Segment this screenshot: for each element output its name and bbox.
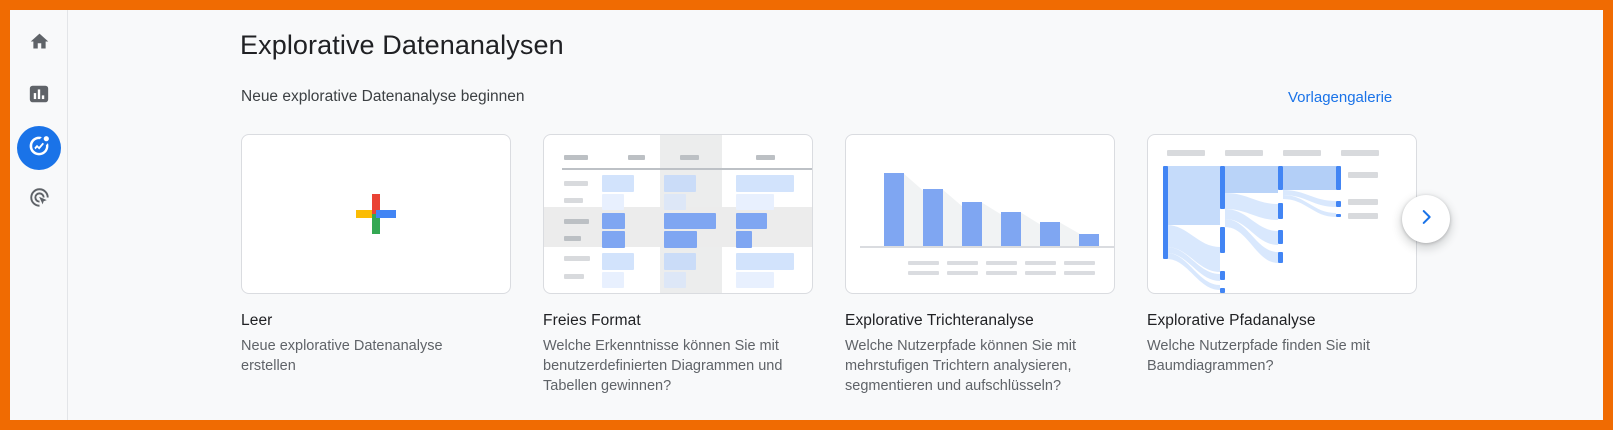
primary-sidebar	[10, 10, 68, 420]
sidebar-item-explore[interactable]	[17, 126, 61, 170]
card-title: Leer	[241, 312, 511, 330]
card-description: Welche Nutzerpfade finden Sie mit Baumdi…	[1147, 336, 1397, 376]
sankey-path-preview	[1148, 135, 1416, 293]
card-thumbnail-funnel[interactable]	[845, 134, 1115, 294]
card-title: Freies Format	[543, 312, 813, 330]
page-title: Explorative Datenanalysen	[240, 30, 564, 61]
card-thumbnail-path[interactable]	[1147, 134, 1417, 294]
chevron-right-icon	[1415, 206, 1437, 233]
card-title: Explorative Trichteranalyse	[845, 312, 1115, 330]
card-thumbnail-free-form[interactable]	[543, 134, 813, 294]
template-card-row: Leer Neue explorative Datenanalyse erste…	[241, 134, 1561, 414]
card-blank[interactable]: Leer Neue explorative Datenanalyse erste…	[241, 134, 511, 376]
template-gallery-link[interactable]: Vorlagengalerie	[1288, 89, 1392, 106]
section-subtitle: Neue explorative Datenanalyse beginnen	[241, 88, 525, 106]
card-description: Welche Erkenntnisse können Sie mit benut…	[543, 336, 793, 396]
sidebar-item-home[interactable]	[17, 22, 61, 66]
google-plus-icon	[356, 194, 396, 234]
funnel-chart-preview	[846, 135, 1114, 293]
bar-chart-icon	[28, 83, 50, 110]
home-icon	[29, 31, 50, 57]
card-description: Neue explorative Datenanalyse erstellen	[241, 336, 491, 376]
sidebar-item-reports[interactable]	[17, 74, 61, 118]
main-content: Explorative Datenanalysen Neue explorati…	[68, 10, 1603, 420]
card-description: Welche Nutzerpfade können Sie mit mehrst…	[845, 336, 1095, 396]
advertising-target-icon	[28, 186, 51, 214]
card-free-form[interactable]: Freies Format Welche Erkenntnisse können…	[543, 134, 813, 396]
card-path[interactable]: Explorative Pfadanalyse Welche Nutzerpfa…	[1147, 134, 1417, 376]
free-form-table-preview	[544, 135, 812, 293]
card-thumbnail-blank[interactable]	[241, 134, 511, 294]
card-title: Explorative Pfadanalyse	[1147, 312, 1417, 330]
app-window: Explorative Datenanalysen Neue explorati…	[10, 10, 1603, 420]
card-funnel[interactable]: Explorative Trichteranalyse Welche Nutze…	[845, 134, 1115, 396]
carousel-next-button[interactable]	[1402, 195, 1450, 243]
explore-icon	[27, 134, 51, 163]
sidebar-item-advertising[interactable]	[17, 178, 61, 222]
